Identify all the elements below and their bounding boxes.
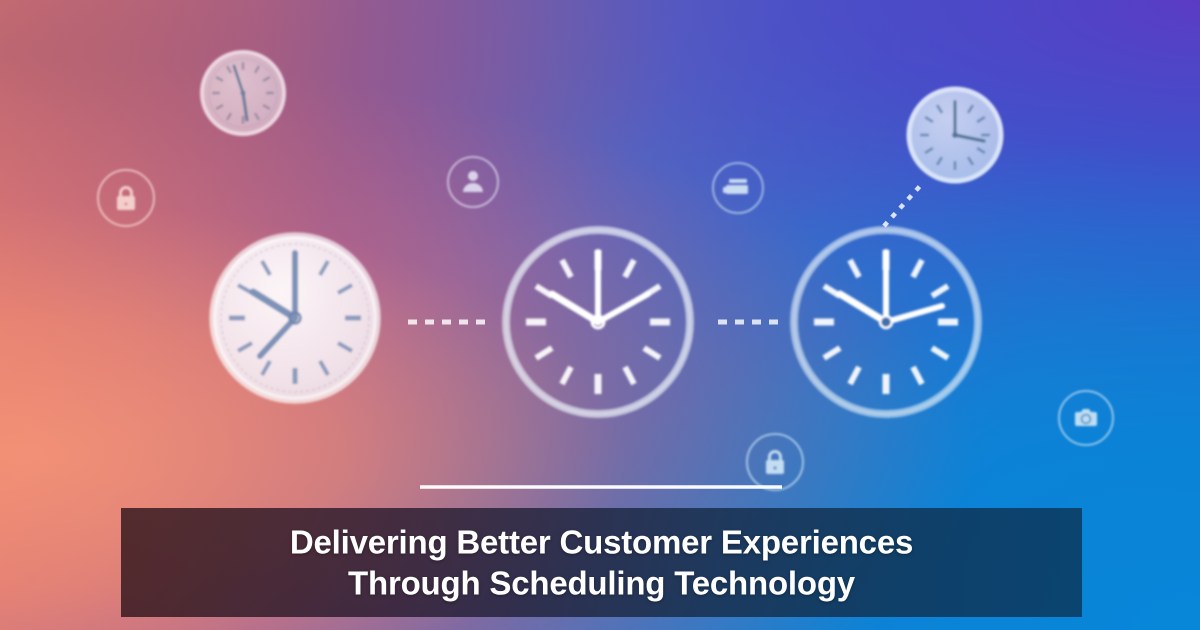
- clock-small-topright: [909, 89, 1001, 181]
- page-title: Delivering Better Customer Experiences T…: [121, 521, 1082, 604]
- clock-3-hands: [840, 252, 942, 322]
- promo-graphic: Delivering Better Customer Experiences T…: [0, 0, 1200, 630]
- calendar-icon: [723, 179, 748, 194]
- clock-large-1: [209, 232, 381, 404]
- connector-diagonal: [884, 186, 920, 226]
- badge-lock-bottom: [747, 434, 803, 490]
- user-icon: [463, 171, 483, 192]
- badge-camera: [1059, 391, 1113, 445]
- clock-large-2: [506, 230, 690, 414]
- title-banner: Delivering Better Customer Experiences T…: [121, 508, 1082, 617]
- badge-lock-left: [98, 170, 154, 226]
- badge-calendar: [713, 163, 763, 213]
- lock-icon: [117, 186, 135, 210]
- badge-user: [448, 157, 498, 207]
- clock-large-3: [794, 230, 978, 414]
- lock-icon: [766, 450, 784, 474]
- clock-small-topleft: [202, 52, 284, 134]
